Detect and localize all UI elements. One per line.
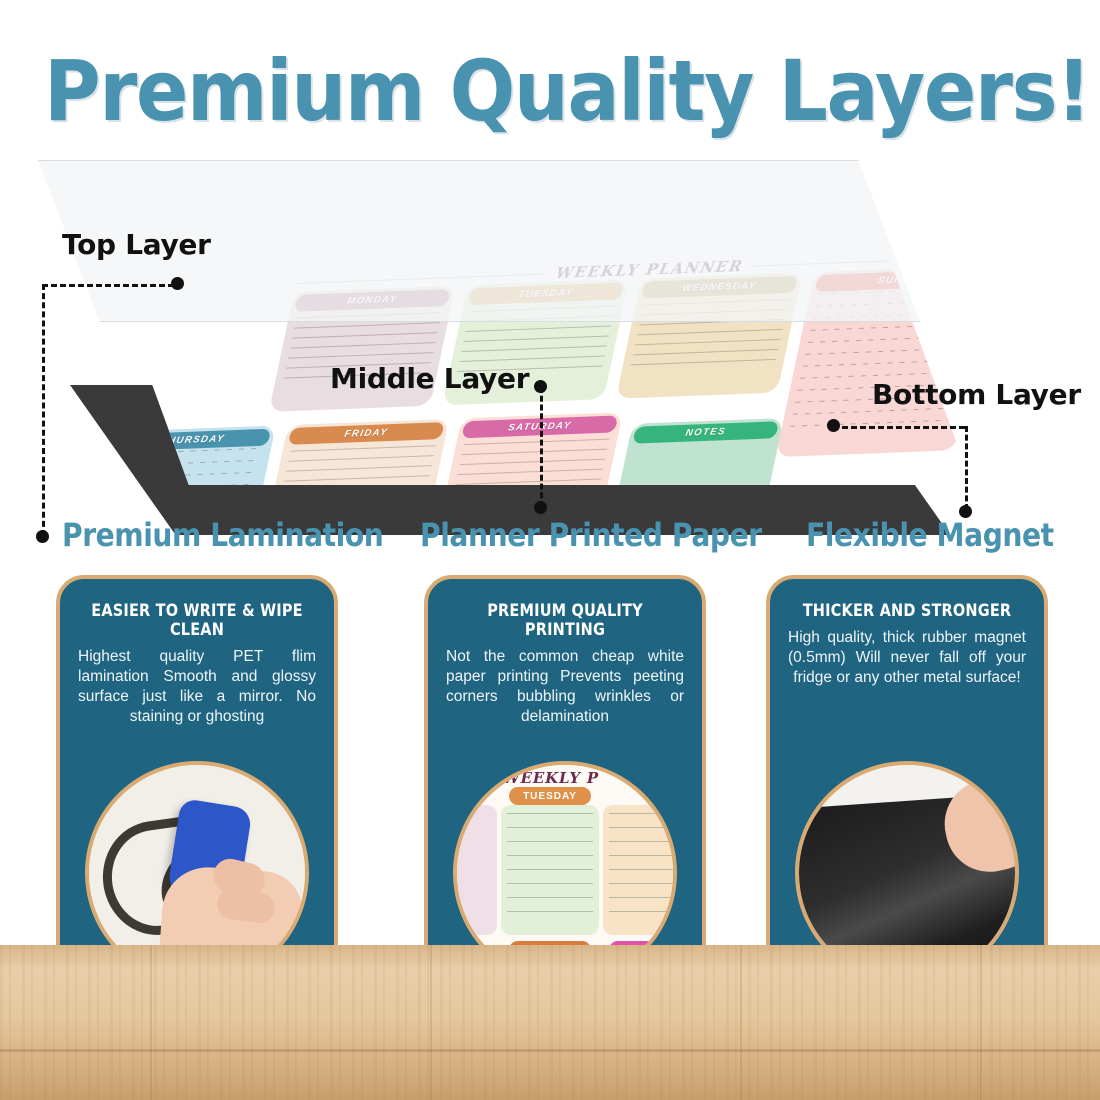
connector-line-bottom-vertical bbox=[965, 426, 968, 510]
connector-dot-planner-printed-paper bbox=[534, 501, 547, 514]
feature-card-heading: THICKER AND STRONGER bbox=[799, 601, 1015, 620]
label-top-layer: Top Layer bbox=[62, 228, 211, 261]
table-front-edge bbox=[0, 1049, 1100, 1052]
connector-line-bottom-horizontal bbox=[833, 426, 965, 429]
planner-closeup-column-tuesday bbox=[501, 805, 599, 935]
planner-column-label: FRIDAY bbox=[288, 422, 445, 445]
feature-card-heading: PREMIUM QUALITY PRINTING bbox=[457, 601, 673, 639]
connector-line-top-vertical bbox=[42, 284, 45, 536]
planner-closeup-lines bbox=[507, 813, 593, 929]
callout-flexible-magnet: Flexible Magnet bbox=[806, 516, 1054, 554]
feature-card-magnet: THICKER AND STRONGER High quality, thick… bbox=[766, 575, 1048, 1007]
planner-closeup-lines bbox=[609, 813, 677, 929]
wood-plank-seam bbox=[740, 945, 742, 1100]
feature-card-body: Not the common cheap white paper printin… bbox=[446, 647, 684, 727]
planner-closeup-title: WEEKLY P bbox=[503, 769, 599, 787]
feature-card-body: High quality, thick rubber magnet (0.5mm… bbox=[788, 628, 1026, 688]
label-bottom-layer: Bottom Layer bbox=[872, 378, 1081, 411]
feature-card-body: Highest quality PET flim lamination Smoo… bbox=[78, 647, 316, 727]
wood-plank-seam bbox=[150, 945, 152, 1100]
wood-plank-seam bbox=[980, 945, 982, 1100]
callout-premium-lamination: Premium Lamination bbox=[62, 516, 383, 554]
connector-line-middle-vertical bbox=[540, 387, 543, 507]
callout-planner-printed-paper: Planner Printed Paper bbox=[420, 516, 762, 554]
feature-card-printing: PREMIUM QUALITY PRINTING Not the common … bbox=[424, 575, 706, 1007]
feature-card-lamination: EASIER TO WRITE & WIPE CLEAN Highest qua… bbox=[56, 575, 338, 1007]
label-middle-layer: Middle Layer bbox=[330, 362, 529, 395]
planner-column-label: NOTES bbox=[632, 421, 779, 443]
connector-line-top-horizontal bbox=[42, 284, 174, 287]
connector-dot-premium-lamination bbox=[36, 530, 49, 543]
wood-plank-seam bbox=[430, 945, 432, 1100]
wooden-table-surface bbox=[0, 945, 1100, 1100]
layer-diagram: WEEKLY PLANNER MONDAY TUESDAY WEDNESDAY bbox=[0, 160, 1100, 520]
planner-closeup-label-tuesday: TUESDAY bbox=[509, 787, 591, 805]
planner-closeup-column-right bbox=[603, 805, 677, 935]
feature-card-heading: EASIER TO WRITE & WIPE CLEAN bbox=[89, 601, 305, 639]
page-title: Premium Quality Layers! bbox=[44, 48, 1056, 134]
planner-closeup-column-left bbox=[453, 805, 497, 935]
